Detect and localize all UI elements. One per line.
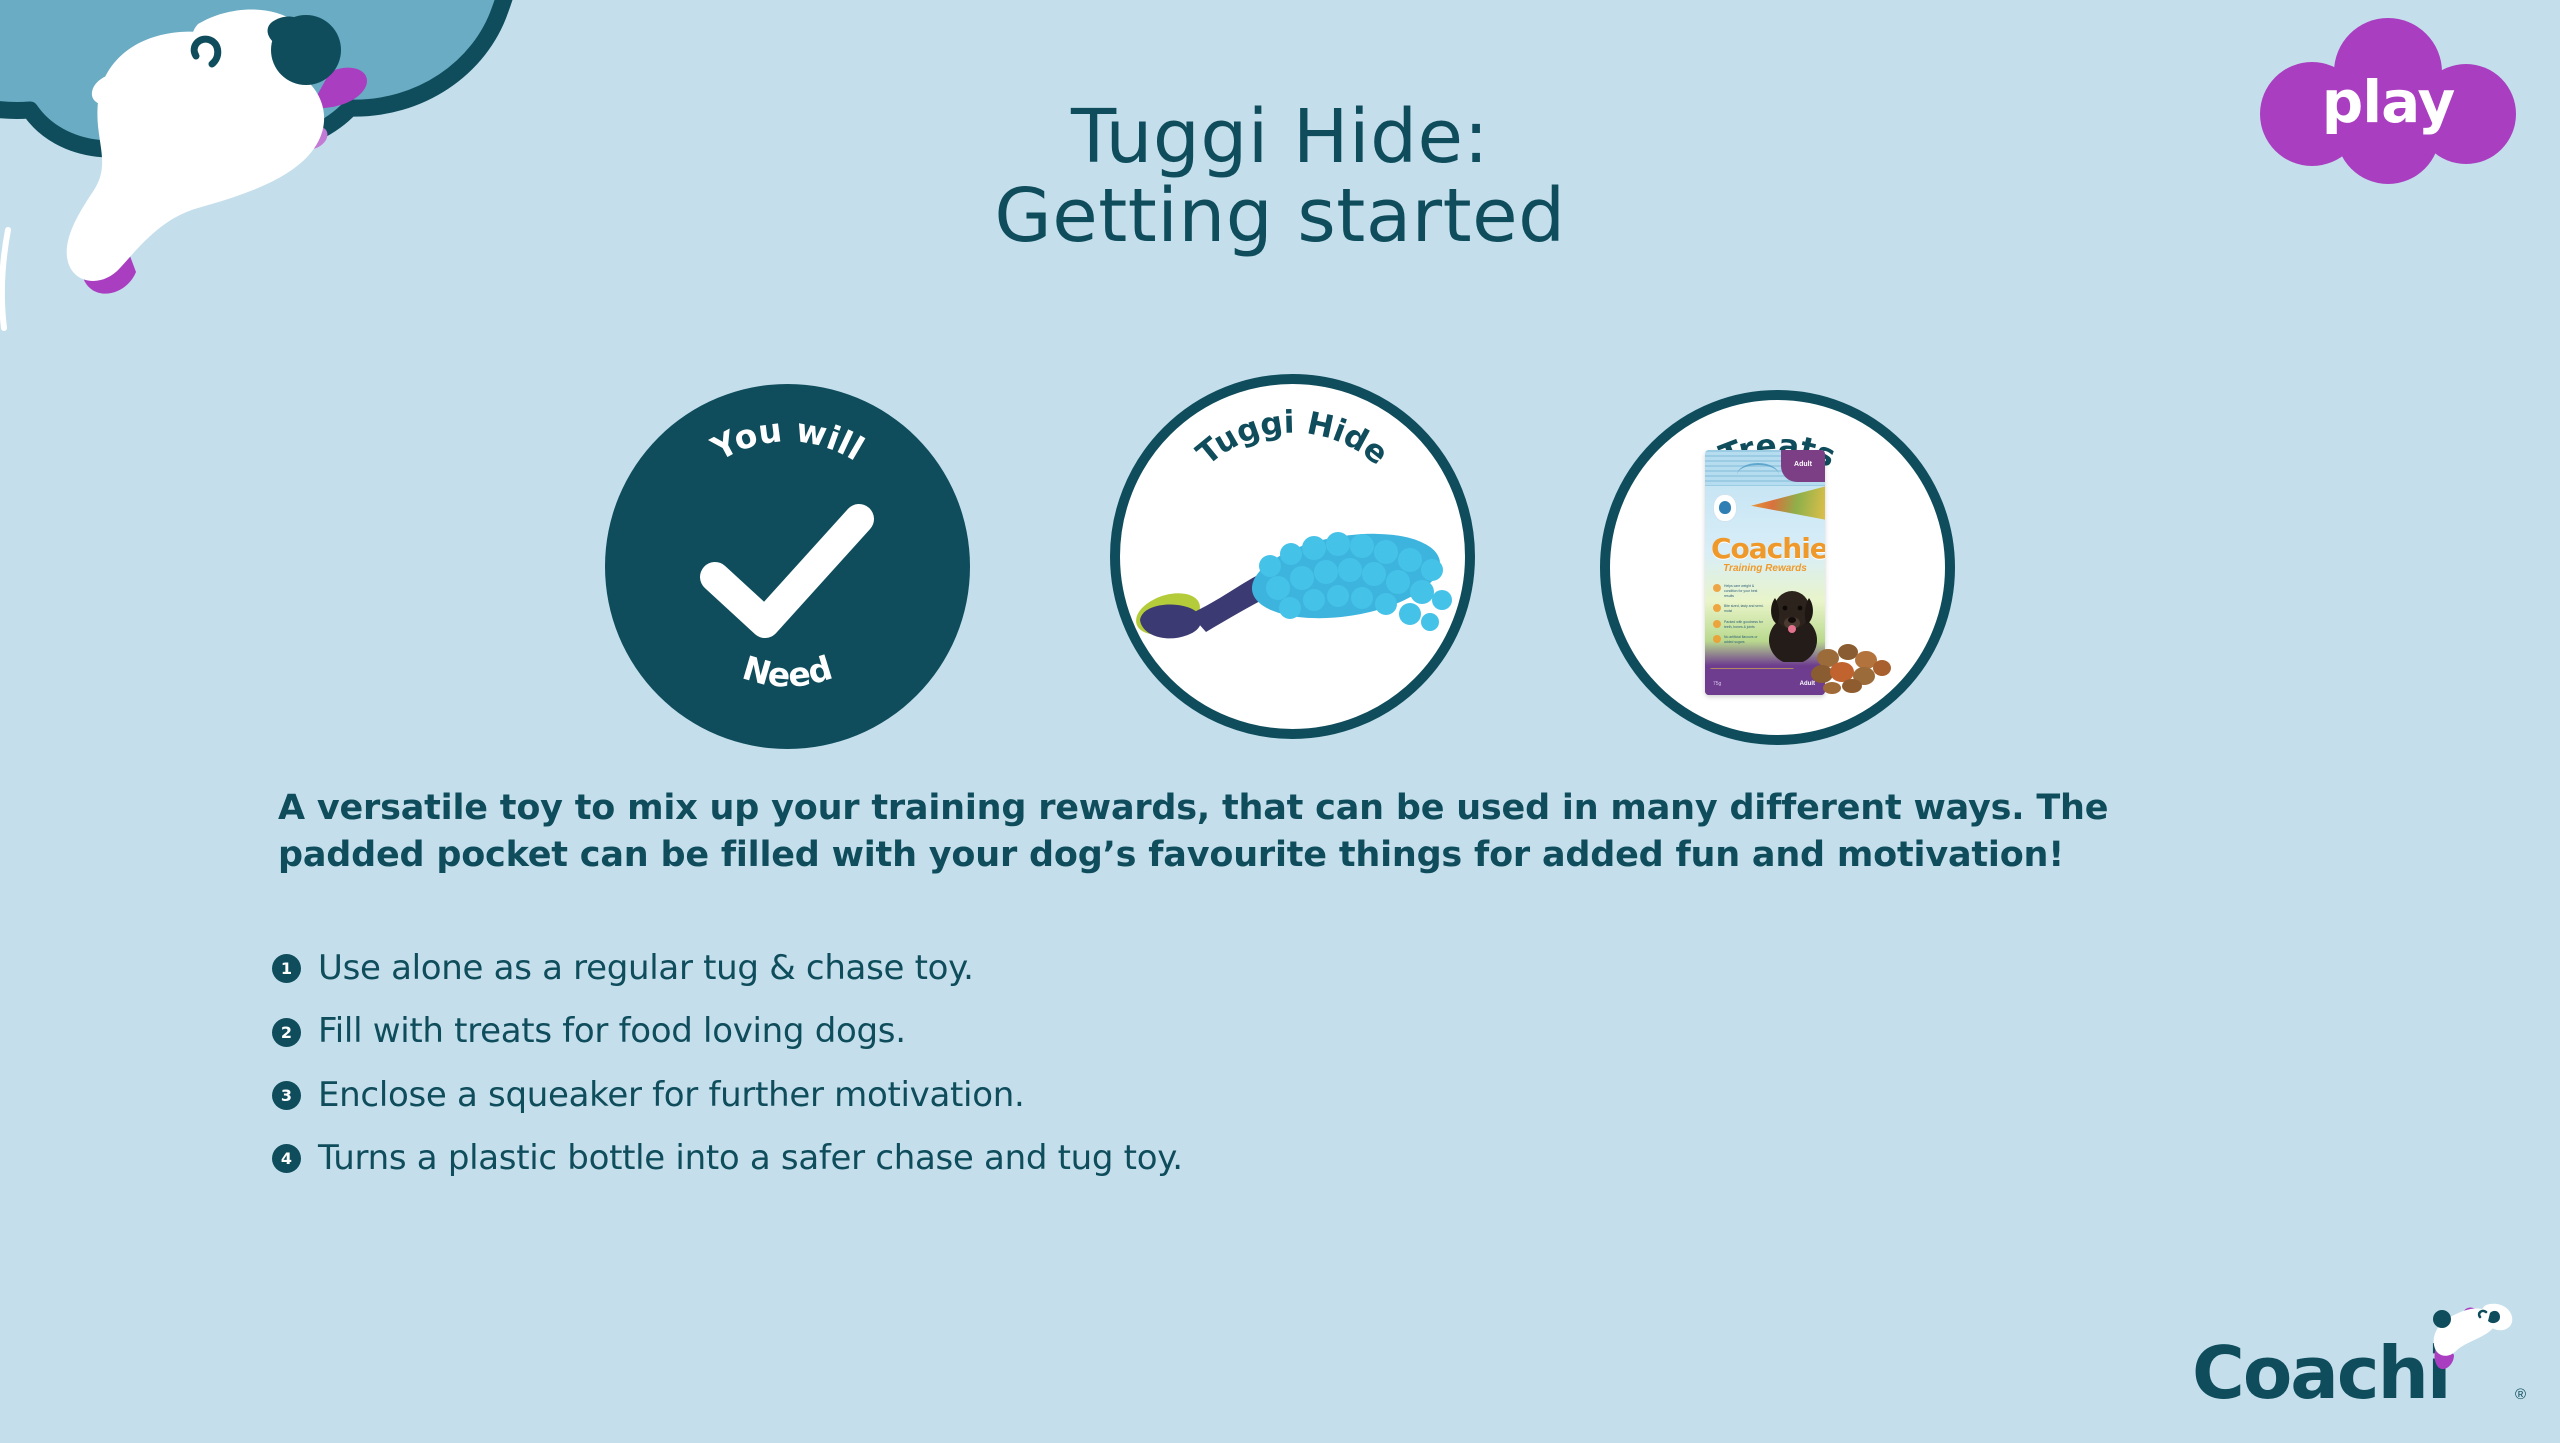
pack-kibble-wedge: [1751, 486, 1825, 520]
steps-list: 1 Use alone as a regular tug & chase toy…: [272, 950, 1972, 1204]
circle-1-arc-top: You will: [704, 410, 871, 468]
pack-badge-adult-top: Adult: [1781, 450, 1825, 482]
check-icon: [693, 495, 883, 645]
step-text: Fill with treats for food loving dogs.: [318, 1013, 906, 1050]
slide-canvas: play Tuggi Hide: Getting started You wil…: [0, 0, 2560, 1443]
svg-text:Tuggi Hide: Tuggi Hide: [1190, 405, 1395, 473]
step-text: Use alone as a regular tug & chase toy.: [318, 950, 974, 987]
pack-weight: 75g: [1713, 681, 1721, 687]
circle-you-will-need: You will Need: [605, 384, 970, 749]
step-text: Turns a plastic bottle into a safer chas…: [318, 1140, 1183, 1177]
registered-mark: ®: [2515, 1386, 2526, 1403]
list-item: 3 Enclose a squeaker for further motivat…: [272, 1077, 1972, 1114]
pack-seal-icon: [1713, 494, 1737, 522]
circle-2-arc-top: Tuggi Hide: [1190, 405, 1395, 473]
kibble-pile-icon: [1806, 638, 1898, 694]
coachi-wordmark: Coachi: [2192, 1331, 2450, 1415]
circle-treats: Treats Adult Coachies Training Rewards H…: [1600, 390, 1955, 745]
svg-text:Need: Need: [738, 648, 837, 695]
coachi-logo: Coachi ®: [2192, 1305, 2522, 1415]
tuggi-hide-toy-icon: [1128, 504, 1473, 664]
intro-paragraph: A versatile toy to mix up your training …: [278, 785, 2218, 880]
items-needed-row: You will Need Tuggi Hide: [0, 372, 2560, 792]
coachi-dog-icon: [2424, 1301, 2516, 1371]
svg-text:You will: You will: [704, 410, 871, 468]
step-number-badge: 2: [272, 1018, 301, 1047]
title-line-2: Getting started: [0, 177, 2560, 256]
pack-subtitle: Training Rewards: [1705, 563, 1825, 574]
step-number-badge: 3: [272, 1081, 301, 1110]
circle-tuggi-hide: Tuggi Hide: [1110, 374, 1475, 739]
list-item: 1 Use alone as a regular tug & chase toy…: [272, 950, 1972, 987]
title-line-1: Tuggi Hide:: [1071, 94, 1489, 180]
list-item: 4 Turns a plastic bottle into a safer ch…: [272, 1140, 1972, 1177]
page-title: Tuggi Hide: Getting started: [0, 98, 2560, 256]
pack-brand-name: Coachies: [1711, 532, 1819, 565]
step-number-badge: 4: [272, 1144, 301, 1173]
step-text: Enclose a squeaker for further motivatio…: [318, 1077, 1024, 1114]
step-number-badge: 1: [272, 954, 301, 983]
list-item: 2 Fill with treats for food loving dogs.: [272, 1013, 1972, 1050]
circle-1-arc-bottom: Need: [738, 648, 837, 695]
